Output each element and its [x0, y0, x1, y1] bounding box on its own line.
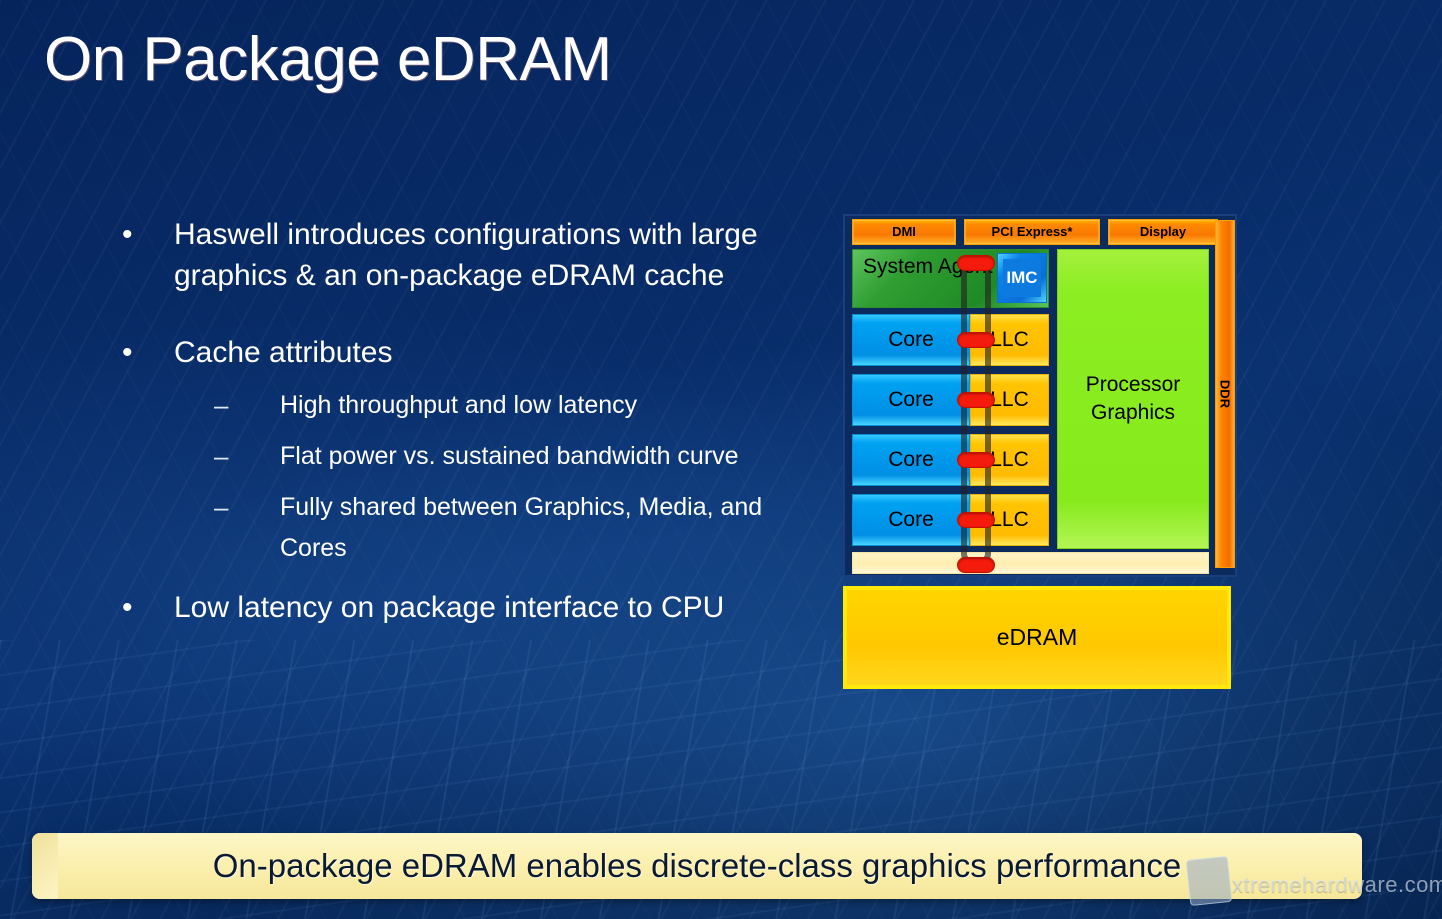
ddr-memory-bus: DDR — [1215, 220, 1235, 568]
bullet-marker: • — [112, 587, 174, 628]
ring-stop-system-agent — [957, 255, 995, 271]
slide-canvas: On Package eDRAM • Haswell introduces co… — [0, 0, 1442, 919]
sub-bullet-marker: – — [112, 487, 280, 569]
bullet-item: • Haswell introduces configurations with… — [112, 214, 812, 296]
takeaway-banner: On-package eDRAM enables discrete-class … — [32, 833, 1362, 899]
bullet-item: • Low latency on package interface to CP… — [112, 587, 812, 628]
core-llc-row: Core LLC — [852, 314, 1049, 370]
core-block: Core — [852, 434, 970, 486]
core-block: Core — [852, 494, 970, 546]
core-llc-row: Core LLC — [852, 374, 1049, 430]
sub-bullet-text: High throughput and low latency — [280, 385, 637, 426]
bullet-text: Haswell introduces configurations with l… — [174, 214, 812, 296]
io-bar-display: Display — [1108, 219, 1218, 245]
banner-text: On-package eDRAM enables discrete-class … — [32, 833, 1362, 899]
sub-bullet-item: – Fully shared between Graphics, Media, … — [112, 487, 812, 569]
core-block: Core — [852, 314, 970, 366]
processor-graphics-label: Processor Graphics — [1058, 371, 1208, 427]
ring-stop — [957, 452, 995, 468]
bullet-text: Low latency on package interface to CPU — [174, 587, 724, 628]
bullet-list: • Haswell introduces configurations with… — [112, 214, 812, 664]
core-llc-row: Core LLC — [852, 434, 1049, 490]
bullet-item: • Cache attributes — [112, 332, 812, 373]
ring-stop — [957, 512, 995, 528]
sub-bullet-text: Fully shared between Graphics, Media, an… — [280, 487, 812, 569]
edram-label: eDRAM — [997, 624, 1078, 650]
sub-bullet-marker: – — [112, 436, 280, 477]
sub-bullet-item: – Flat power vs. sustained bandwidth cur… — [112, 436, 812, 477]
io-bar-pci-express: PCI Express* — [964, 219, 1100, 245]
sub-bullet-marker: – — [112, 385, 280, 426]
core-block: Core — [852, 374, 970, 426]
processor-die: DMI PCI Express* Display DDR System Agen… — [843, 214, 1237, 577]
ring-stop — [957, 392, 995, 408]
io-bar-dmi: DMI — [852, 219, 956, 245]
page-title: On Package eDRAM — [44, 22, 611, 98]
die-base-strip — [852, 552, 1209, 574]
core-llc-row: Core LLC — [852, 494, 1049, 550]
edram-block: eDRAM — [843, 586, 1231, 689]
sub-bullet-item: – High throughput and low latency — [112, 385, 812, 426]
ddr-label: DDR — [1218, 380, 1233, 408]
imc-block: IMC — [997, 253, 1047, 303]
ring-stop — [957, 332, 995, 348]
ring-stop-edram — [957, 557, 995, 573]
bullet-marker: • — [112, 214, 174, 296]
bullet-text: Cache attributes — [174, 332, 392, 373]
soc-block-diagram: DMI PCI Express* Display DDR System Agen… — [843, 214, 1237, 689]
sub-bullet-text: Flat power vs. sustained bandwidth curve — [280, 436, 739, 477]
bullet-marker: • — [112, 332, 174, 373]
processor-graphics-block: Processor Graphics — [1057, 249, 1209, 549]
imc-label: IMC — [1006, 268, 1037, 287]
